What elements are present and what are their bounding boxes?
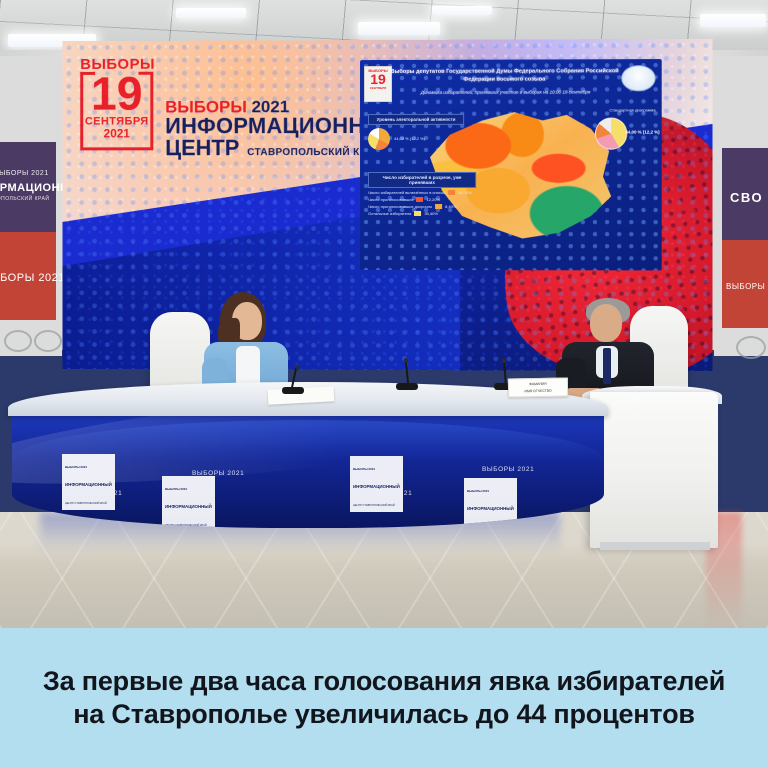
microphone-head xyxy=(502,358,506,363)
election-map-graphic: ВЫБОРЫ 19 СЕНТЯБРЯ Выборы депутатов Госу… xyxy=(360,59,662,270)
left-panel-red-label: ВЫБОРЫ 2021 xyxy=(0,272,65,284)
map-pie-chart xyxy=(595,118,627,150)
studio-photo: ВЫБОРЫ 2021 ИНФОРМАЦИОННЫЙ СТАВРОПОЛЬСКИ… xyxy=(0,0,768,628)
name-card-line1: ФАМИЛИЯ xyxy=(509,381,567,387)
ceiling-light xyxy=(176,8,246,18)
desk-word-mark: ВЫБОРЫ 2021 xyxy=(482,458,534,476)
desk-logo-a: ВЫБОРЫ 2021 xyxy=(65,465,87,469)
desk-word: ВЫБОРЫ 2021 xyxy=(70,490,122,497)
legend-row: Число проголосовавших досрочно 8,40% xyxy=(368,204,476,209)
legend-value: 8,40% xyxy=(445,204,456,209)
legend-label: Число проголосовавших досрочно xyxy=(368,204,432,209)
map-subtitle: Динамика избирателей, принявших участие … xyxy=(400,89,611,95)
turnout-value: 44,00 % (12,2 %) xyxy=(394,136,425,142)
map-title: Выборы депутатов Государственной Думы Фе… xyxy=(388,67,621,84)
guest-head xyxy=(590,304,622,342)
caption-text: За первые два часа голосования явка изби… xyxy=(0,665,768,731)
ceiling-light xyxy=(358,22,440,35)
legend-label: Остальные избиратели xyxy=(368,211,411,216)
sponsor-logo-icon xyxy=(4,330,32,352)
map-pie-header: Стандартная диаграмма xyxy=(609,107,655,112)
legend-swatch xyxy=(417,197,424,202)
desk-logo-b: ИНФОРМАЦИОННЫЙ xyxy=(467,506,514,511)
right-panel-purple: СВО xyxy=(722,148,768,240)
turnout-pie-chart xyxy=(368,128,390,150)
legend-row: Число проголосовавших 12,20% xyxy=(368,197,476,202)
right-panel-red-label: ВЫБОРЫ xyxy=(726,282,765,291)
legend-swatch xyxy=(414,211,421,216)
legend-row: Остальные избиратели 35,40% xyxy=(368,211,476,216)
ceiling-light xyxy=(700,14,766,27)
map-pie-value: 44,00 % (12,2 %) xyxy=(625,130,659,135)
right-panel-title: СВО xyxy=(730,190,763,205)
legend-row: Число избирателей включённых в список 44… xyxy=(368,190,476,195)
legend-swatch xyxy=(435,204,442,209)
desk-word: ВЫБОРЫ 2021 xyxy=(360,490,412,497)
desk-front-panel: ВЫБОРЫ 2021 ИНФОРМАЦИОННЫЙ ЦЕНТР СТАВРОП… xyxy=(12,408,604,528)
microphone-head xyxy=(296,365,300,370)
legend-value: 35,40% xyxy=(424,211,438,216)
right-panel-red: ВЫБОРЫ xyxy=(722,240,768,328)
region-emblem-icon xyxy=(621,65,655,91)
official-election-logo: ВЫБОРЫ 19 СЕНТЯБРЯ 2021 xyxy=(80,57,153,153)
name-card-line2: ИМЯ ОТЧЕСТВО xyxy=(509,389,567,395)
left-panel-top-label: ВЫБОРЫ 2021 xyxy=(0,170,49,177)
desk-logo-mark: ВЫБОРЫ 2021 ИНФОРМАЦИОННЫЙ ЦЕНТР СТАВРОП… xyxy=(162,476,215,528)
desk-word-mark: ВЫБОРЫ 2021 xyxy=(360,482,412,500)
ceiling-light xyxy=(432,6,492,15)
desk-logo-c: ЦЕНТР СТАВРОПОЛЬСКИЙ КРАЙ xyxy=(165,524,207,527)
legend-value: 12,20% xyxy=(427,197,441,202)
desk-logo-b: ИНФОРМАЦИОННЫЙ xyxy=(165,504,212,509)
legend-swatch xyxy=(448,190,455,195)
caption-bar: За первые два часа голосования явка изби… xyxy=(0,628,768,768)
guest-name-card: ФАМИЛИЯ ИМЯ ОТЧЕСТВО xyxy=(508,377,568,397)
studio-branding: ВЫБОРЫ 19 СЕНТЯБРЯ 2021 ВЫБОРЫ 2021 ИНФО… xyxy=(80,56,402,160)
microphone xyxy=(280,368,306,394)
legend-label: Число избирателей включённых в список xyxy=(368,190,445,195)
turnout-panel: Уровень электоральной активности 44,00 %… xyxy=(368,114,464,150)
left-panel-purple: ВЫБОРЫ 2021 ИНФОРМАЦИОННЫЙ СТАВРОПОЛЬСКИ… xyxy=(0,142,56,232)
logo-day: 19 xyxy=(83,72,150,117)
turnout-header: Уровень электоральной активности xyxy=(368,114,464,125)
desk-logo-mark: ВЫБОРЫ 2021 ИНФОРМАЦИОННЫЙ ЦЕНТР СТАВРОП… xyxy=(464,478,517,528)
legend-label: Число проголосовавших xyxy=(368,197,413,202)
legend-value: 44,00% xyxy=(458,190,472,195)
screenshot-root: ВЫБОРЫ 2021 ИНФОРМАЦИОННЫЙ СТАВРОПОЛЬСКИ… xyxy=(0,0,768,768)
desk-logo-c: ЦЕНТР СТАВРОПОЛЬСКИЙ КРАЙ xyxy=(65,502,107,505)
desk-logo-c: ЦЕНТР СТАВРОПОЛЬСКИЙ КРАЙ xyxy=(353,504,395,507)
legend-header: Число избирателей в разрезе, уже принявш… xyxy=(368,172,476,188)
turnout-body: 44,00 % (12,2 %) xyxy=(368,128,464,150)
logo-year: 2021 xyxy=(83,127,150,140)
guest-tie xyxy=(603,348,611,384)
sponsor-logo-icon xyxy=(34,330,62,352)
left-panel-subtitle: СТАВРОПОЛЬСКИЙ КРАЙ xyxy=(0,196,49,202)
microphone-stem xyxy=(503,362,507,384)
desk-end-panel xyxy=(590,392,718,548)
desk-end-kickplate xyxy=(600,542,710,550)
microphone xyxy=(394,362,420,390)
desk-logo-a: ВЫБОРЫ 2021 xyxy=(353,467,375,471)
microphone-head xyxy=(404,358,408,363)
logo-frame: 19 СЕНТЯБРЯ 2021 xyxy=(80,72,153,151)
microphone-stem xyxy=(291,368,297,388)
desk-logo-a: ВЫБОРЫ 2021 xyxy=(467,489,489,493)
microphone-stem xyxy=(405,362,409,384)
left-panel-red: ВЫБОРЫ 2021 xyxy=(0,232,56,320)
wordmark-center: ЦЕНТР xyxy=(165,138,239,160)
desk-logo-a: ВЫБОРЫ 2021 xyxy=(165,487,187,491)
desk-word-mark: ВЫБОРЫ 2021 xyxy=(70,482,122,500)
map-mini-month: СЕНТЯБРЯ xyxy=(365,86,391,90)
sponsor-logo-icon xyxy=(736,336,766,359)
map-legend: Число избирателей в разрезе, уже принявш… xyxy=(368,172,476,216)
microphone-base xyxy=(282,387,304,394)
desk-logo-c: ЦЕНТР СТАВРОПОЛЬСКИЙ КРАЙ xyxy=(467,526,509,528)
desk-word: ВЫБОРЫ 2021 xyxy=(482,466,534,473)
